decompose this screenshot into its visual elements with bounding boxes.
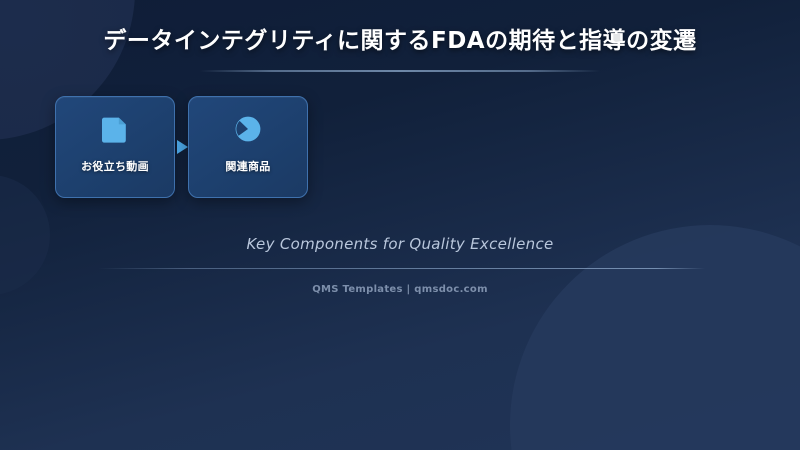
title-block: データインテグリティに関するFDAの期待と指導の変遷 (0, 28, 800, 72)
arrow-right-icon (177, 140, 188, 154)
card-oyakudachi-douga[interactable]: お役立ち動画 (55, 96, 175, 198)
footer-divider (98, 268, 705, 269)
slide-subtitle: Key Components for Quality Excellence (0, 235, 800, 253)
card-label: 関連商品 (225, 158, 270, 174)
page-title: データインテグリティに関するFDAの期待と指導の変遷 (0, 28, 800, 56)
footer-attribution: QMS Templates | qmsdoc.com (0, 284, 800, 295)
title-divider (200, 70, 600, 72)
card-row: お役立ち動画 関連商品 (55, 96, 308, 198)
document-icon (101, 115, 129, 143)
card-kanren-shouhin[interactable]: 関連商品 (188, 96, 308, 198)
slide-canvas: データインテグリティに関するFDAの期待と指導の変遷 お役立ち動画 (0, 0, 800, 450)
decorative-circle-bottom-right (510, 225, 800, 450)
card-label: お役立ち動画 (81, 158, 149, 174)
pie-circle-icon (234, 115, 262, 143)
card-connector (175, 96, 188, 198)
